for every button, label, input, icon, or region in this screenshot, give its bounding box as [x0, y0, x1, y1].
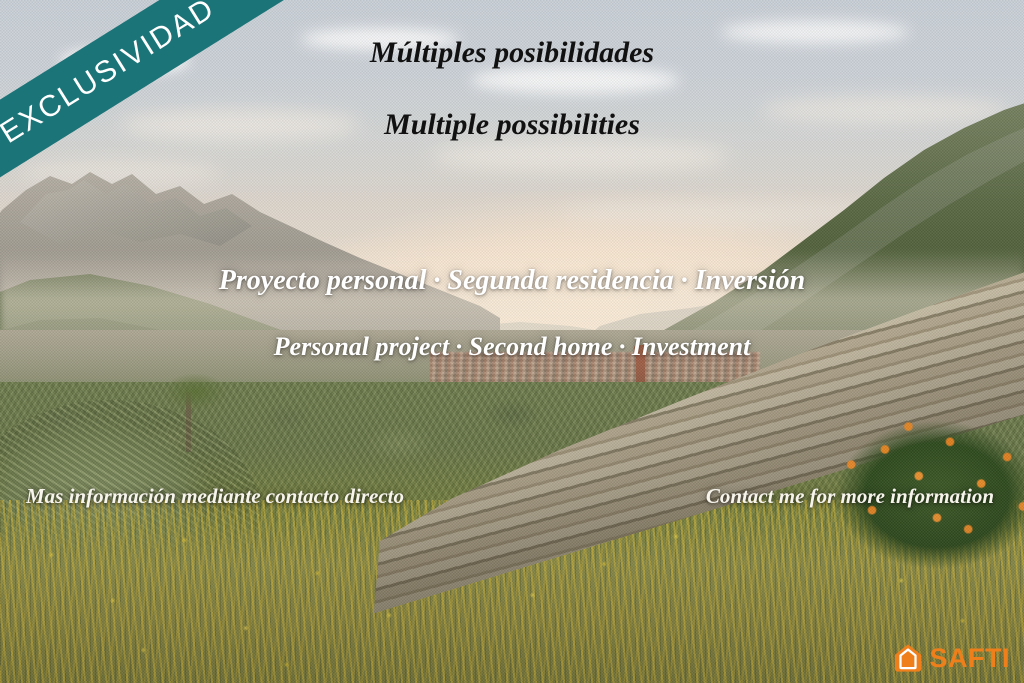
footer-english: Contact me for more information [706, 484, 994, 509]
promo-image: EXCLUSIVIDAD Múltiples posibilidades Mul… [0, 0, 1024, 683]
safti-logo[interactable]: SAFTI [893, 643, 1011, 673]
safti-wordmark: SAFTI [930, 645, 1011, 672]
cloud [470, 66, 680, 94]
middle-line-spanish: Proyecto personal · Segunda residencia ·… [0, 265, 1024, 297]
house-icon [893, 643, 923, 673]
middle-line-english: Personal project · Second home · Investm… [0, 332, 1024, 362]
headline-english: Multiple possibilities [0, 108, 1024, 142]
headline-spanish: Múltiples posibilidades [0, 36, 1024, 70]
footer-spanish: Mas información mediante contacto direct… [26, 484, 404, 509]
